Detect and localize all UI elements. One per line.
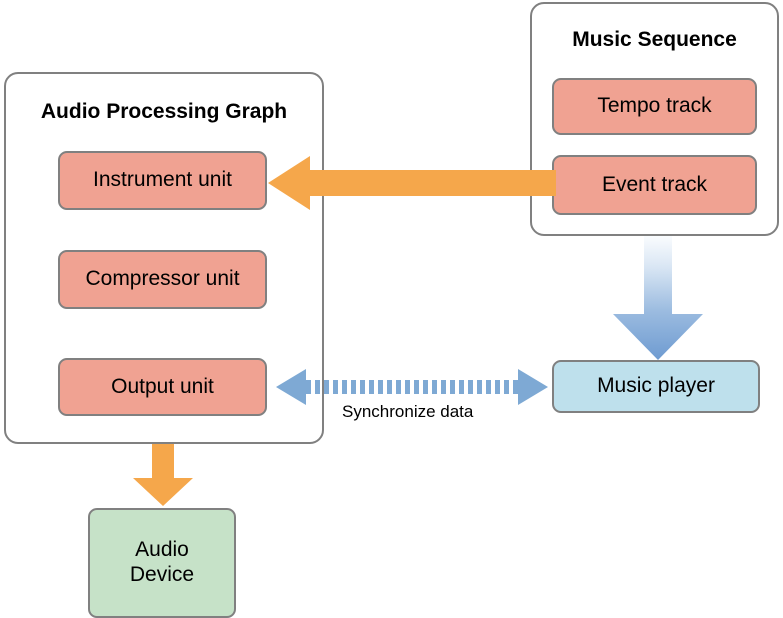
node-compressor-unit[interactable]: Compressor unit bbox=[58, 250, 267, 309]
arrow-head-right-icon bbox=[518, 369, 548, 405]
container-title-music-sequence: Music Sequence bbox=[530, 28, 779, 52]
connector-label-synchronize-data: Synchronize data bbox=[342, 402, 473, 422]
arrow-head-down-icon bbox=[133, 444, 193, 506]
node-label-tempo-track: Tempo track bbox=[597, 94, 711, 119]
node-music-player[interactable]: Music player bbox=[552, 360, 760, 413]
diagram-canvas: Audio Processing Graph Instrument unit C… bbox=[0, 0, 783, 618]
node-label-output-unit: Output unit bbox=[111, 375, 214, 400]
connector-output-unit-to-audio-device bbox=[133, 444, 193, 506]
node-label-audio-device-line1: Audio bbox=[135, 538, 189, 563]
arrow-head-down-icon bbox=[613, 236, 703, 360]
connector-event-track-to-instrument-unit bbox=[268, 152, 556, 214]
node-label-event-track: Event track bbox=[602, 173, 707, 198]
node-label-compressor-unit: Compressor unit bbox=[85, 267, 239, 292]
node-label-audio-device-line2: Device bbox=[130, 563, 194, 588]
node-label-music-player: Music player bbox=[597, 374, 715, 399]
node-audio-device[interactable]: Audio Device bbox=[88, 508, 236, 618]
connector-event-track-to-music-player bbox=[613, 236, 703, 360]
node-tempo-track[interactable]: Tempo track bbox=[552, 78, 757, 135]
container-title-audio-processing-graph: Audio Processing Graph bbox=[4, 100, 324, 124]
arrow-head-left-icon bbox=[276, 369, 306, 405]
node-event-track[interactable]: Event track bbox=[552, 155, 757, 215]
node-instrument-unit[interactable]: Instrument unit bbox=[58, 151, 267, 210]
node-label-instrument-unit: Instrument unit bbox=[93, 168, 232, 193]
arrow-head-left-icon bbox=[268, 156, 556, 210]
node-output-unit[interactable]: Output unit bbox=[58, 358, 267, 416]
